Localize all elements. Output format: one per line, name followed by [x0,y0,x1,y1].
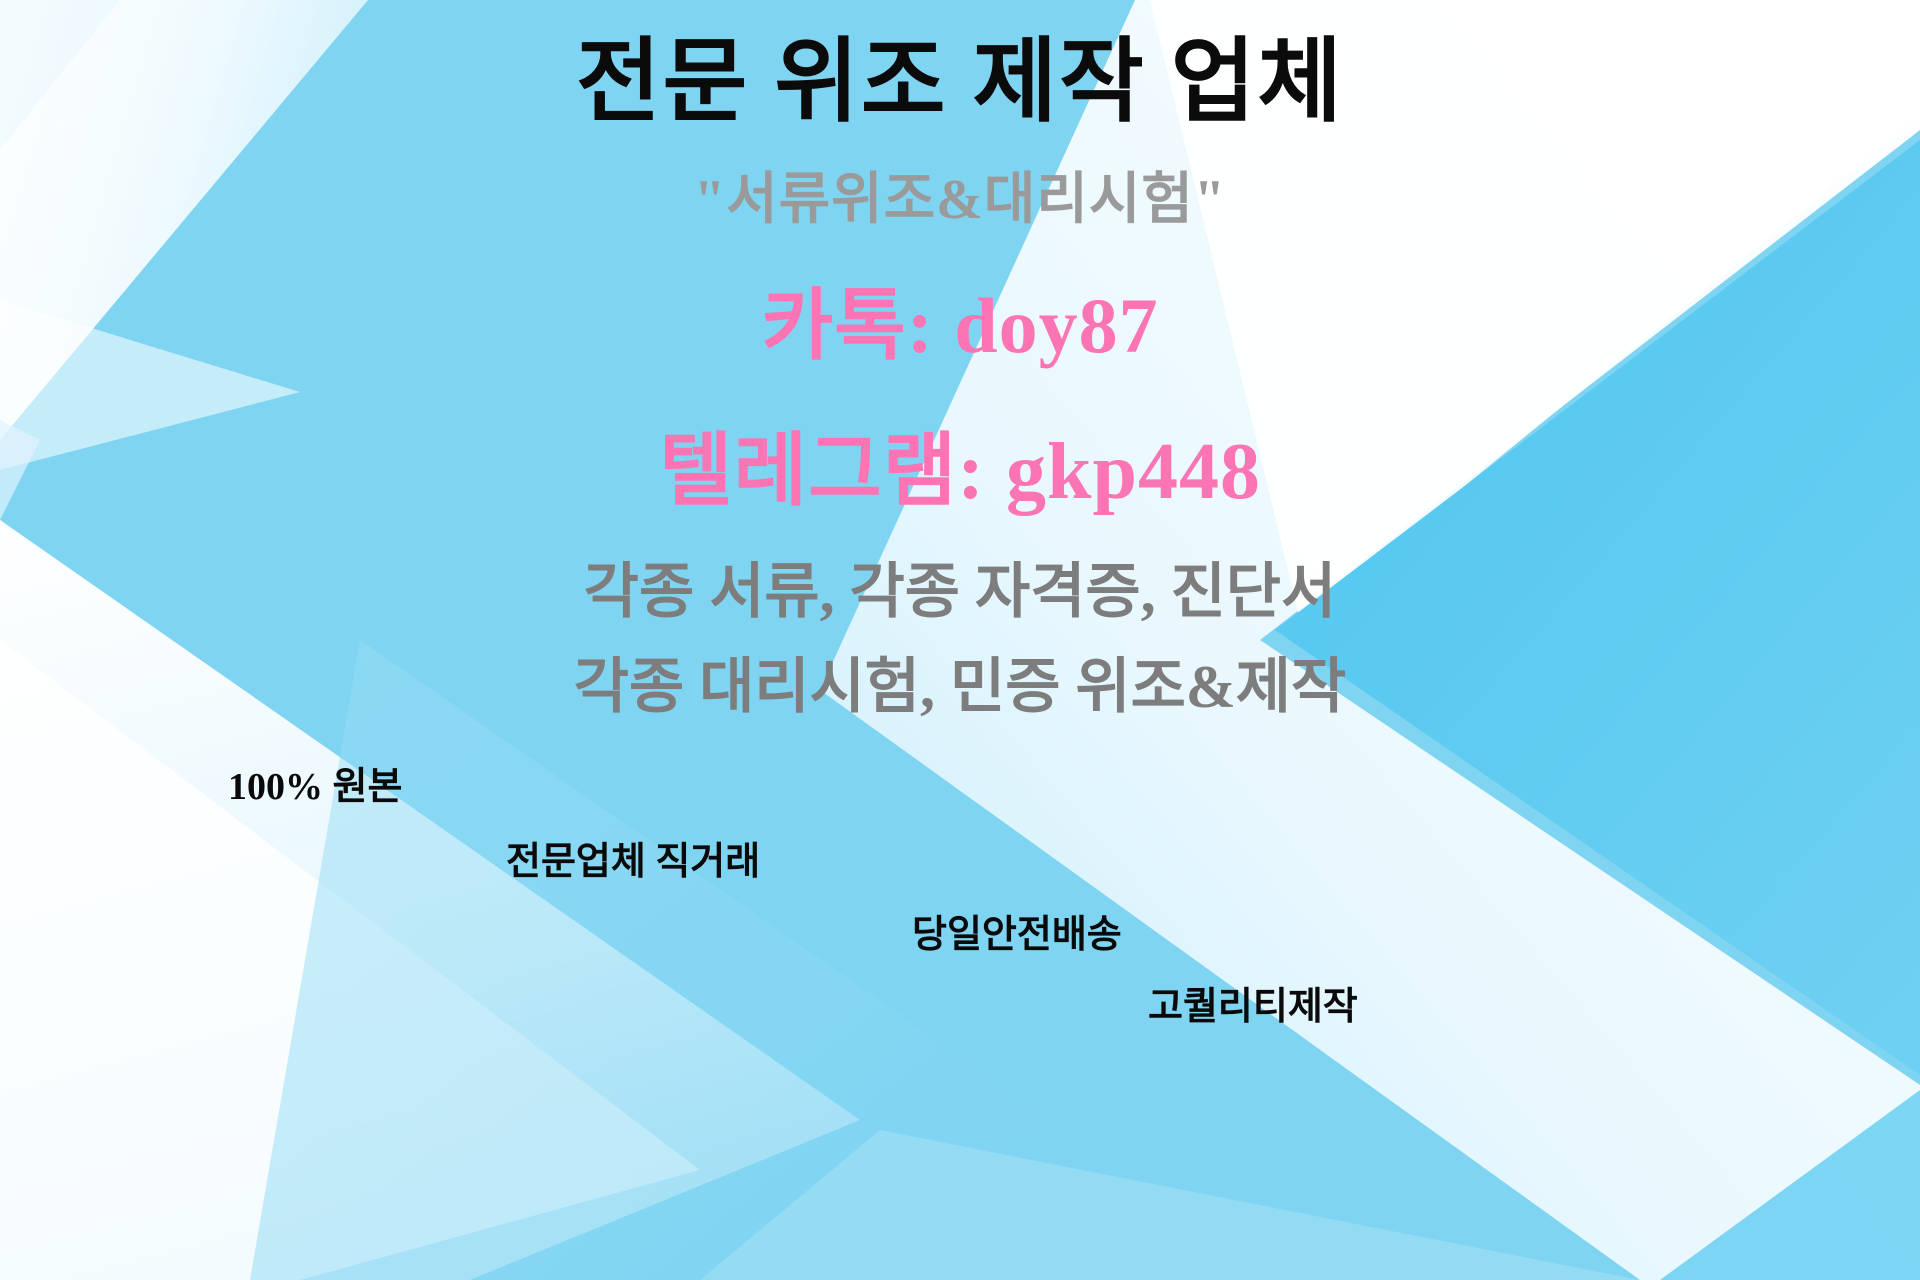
badge-original-quality: 100% 원본 [228,755,402,810]
badge-high-quality-production: 고퀄리티제작 [1148,975,1358,1030]
contact-telegram[interactable]: 텔레그램: gkp448 [0,432,1920,512]
poster-title: 전문 위조 제작 업체 [0,36,1920,128]
badge-direct-dealing: 전문업체 직거래 [506,830,760,885]
contact-kakaotalk[interactable]: 카톡: doy87 [0,287,1920,365]
promo-poster: 전문 위조 제작 업체 "서류위조&대리시험" 카톡: doy87 텔레그램: … [0,0,1920,1280]
poster-subtitle: "서류위조&대리시험" [0,172,1920,228]
service-list-line-1: 각종 서류, 각종 자격증, 진단서 [0,562,1920,622]
text-content-layer: 전문 위조 제작 업체 "서류위조&대리시험" 카톡: doy87 텔레그램: … [0,0,1920,1280]
badge-same-day-delivery: 당일안전배송 [912,903,1122,958]
service-list-line-2: 각종 대리시험, 민증 위조&제작 [0,657,1920,717]
